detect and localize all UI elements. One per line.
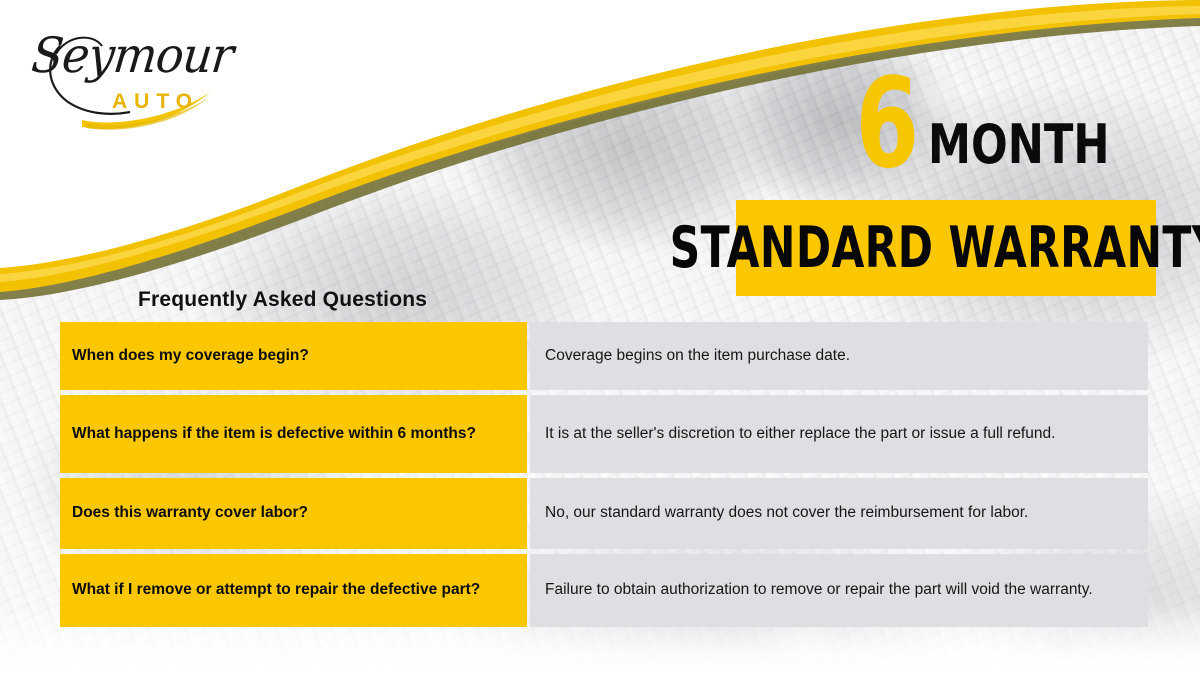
- faq-question-text: What happens if the item is defective wi…: [72, 424, 476, 444]
- brand-logo: Seymour AUTO: [26, 24, 236, 136]
- faq-row: When does my coverage begin? Coverage be…: [60, 322, 1148, 390]
- warranty-term-number: 6: [855, 74, 916, 176]
- warranty-term-unit: MONTH: [928, 119, 1110, 175]
- logo-wordmark: Seymour: [29, 26, 236, 83]
- faq-answer-cell: It is at the seller's discretion to eith…: [530, 395, 1148, 473]
- faq-answer-text: Failure to obtain authorization to remov…: [545, 580, 1134, 601]
- faq-question-cell: Does this warranty cover labor?: [60, 478, 527, 549]
- warranty-term: 6 MONTH: [834, 74, 1155, 176]
- faq-question-cell: When does my coverage begin?: [60, 322, 527, 390]
- faq-table: When does my coverage begin? Coverage be…: [60, 322, 1148, 627]
- faq-question-cell: What if I remove or attempt to repair th…: [60, 554, 527, 627]
- faq-answer-cell: Coverage begins on the item purchase dat…: [530, 322, 1148, 390]
- faq-question-cell: What happens if the item is defective wi…: [60, 395, 527, 473]
- faq-question-text: When does my coverage begin?: [72, 346, 309, 366]
- faq-row: Does this warranty cover labor? No, our …: [60, 478, 1148, 549]
- faq-row: What if I remove or attempt to repair th…: [60, 554, 1148, 627]
- standard-warranty-banner: STANDARD WARRANTY: [736, 200, 1156, 296]
- faq-answer-text: Coverage begins on the item purchase dat…: [545, 346, 1134, 367]
- faq-question-text: What if I remove or attempt to repair th…: [72, 580, 480, 600]
- standard-warranty-banner-text: STANDARD WARRANTY: [669, 220, 1200, 277]
- faq-row: What happens if the item is defective wi…: [60, 395, 1148, 473]
- faq-answer-cell: No, our standard warranty does not cover…: [530, 478, 1148, 549]
- faq-question-text: Does this warranty cover labor?: [72, 503, 308, 523]
- faq-answer-text: It is at the seller's discretion to eith…: [545, 424, 1134, 445]
- faq-answer-text: No, our standard warranty does not cover…: [545, 503, 1134, 524]
- faq-answer-cell: Failure to obtain authorization to remov…: [530, 554, 1148, 627]
- faq-heading: Frequently Asked Questions: [138, 288, 427, 312]
- warranty-slide: Seymour AUTO 6 MONTH STANDARD WARRANTY F…: [0, 0, 1200, 675]
- logo-subtext: AUTO: [112, 90, 199, 114]
